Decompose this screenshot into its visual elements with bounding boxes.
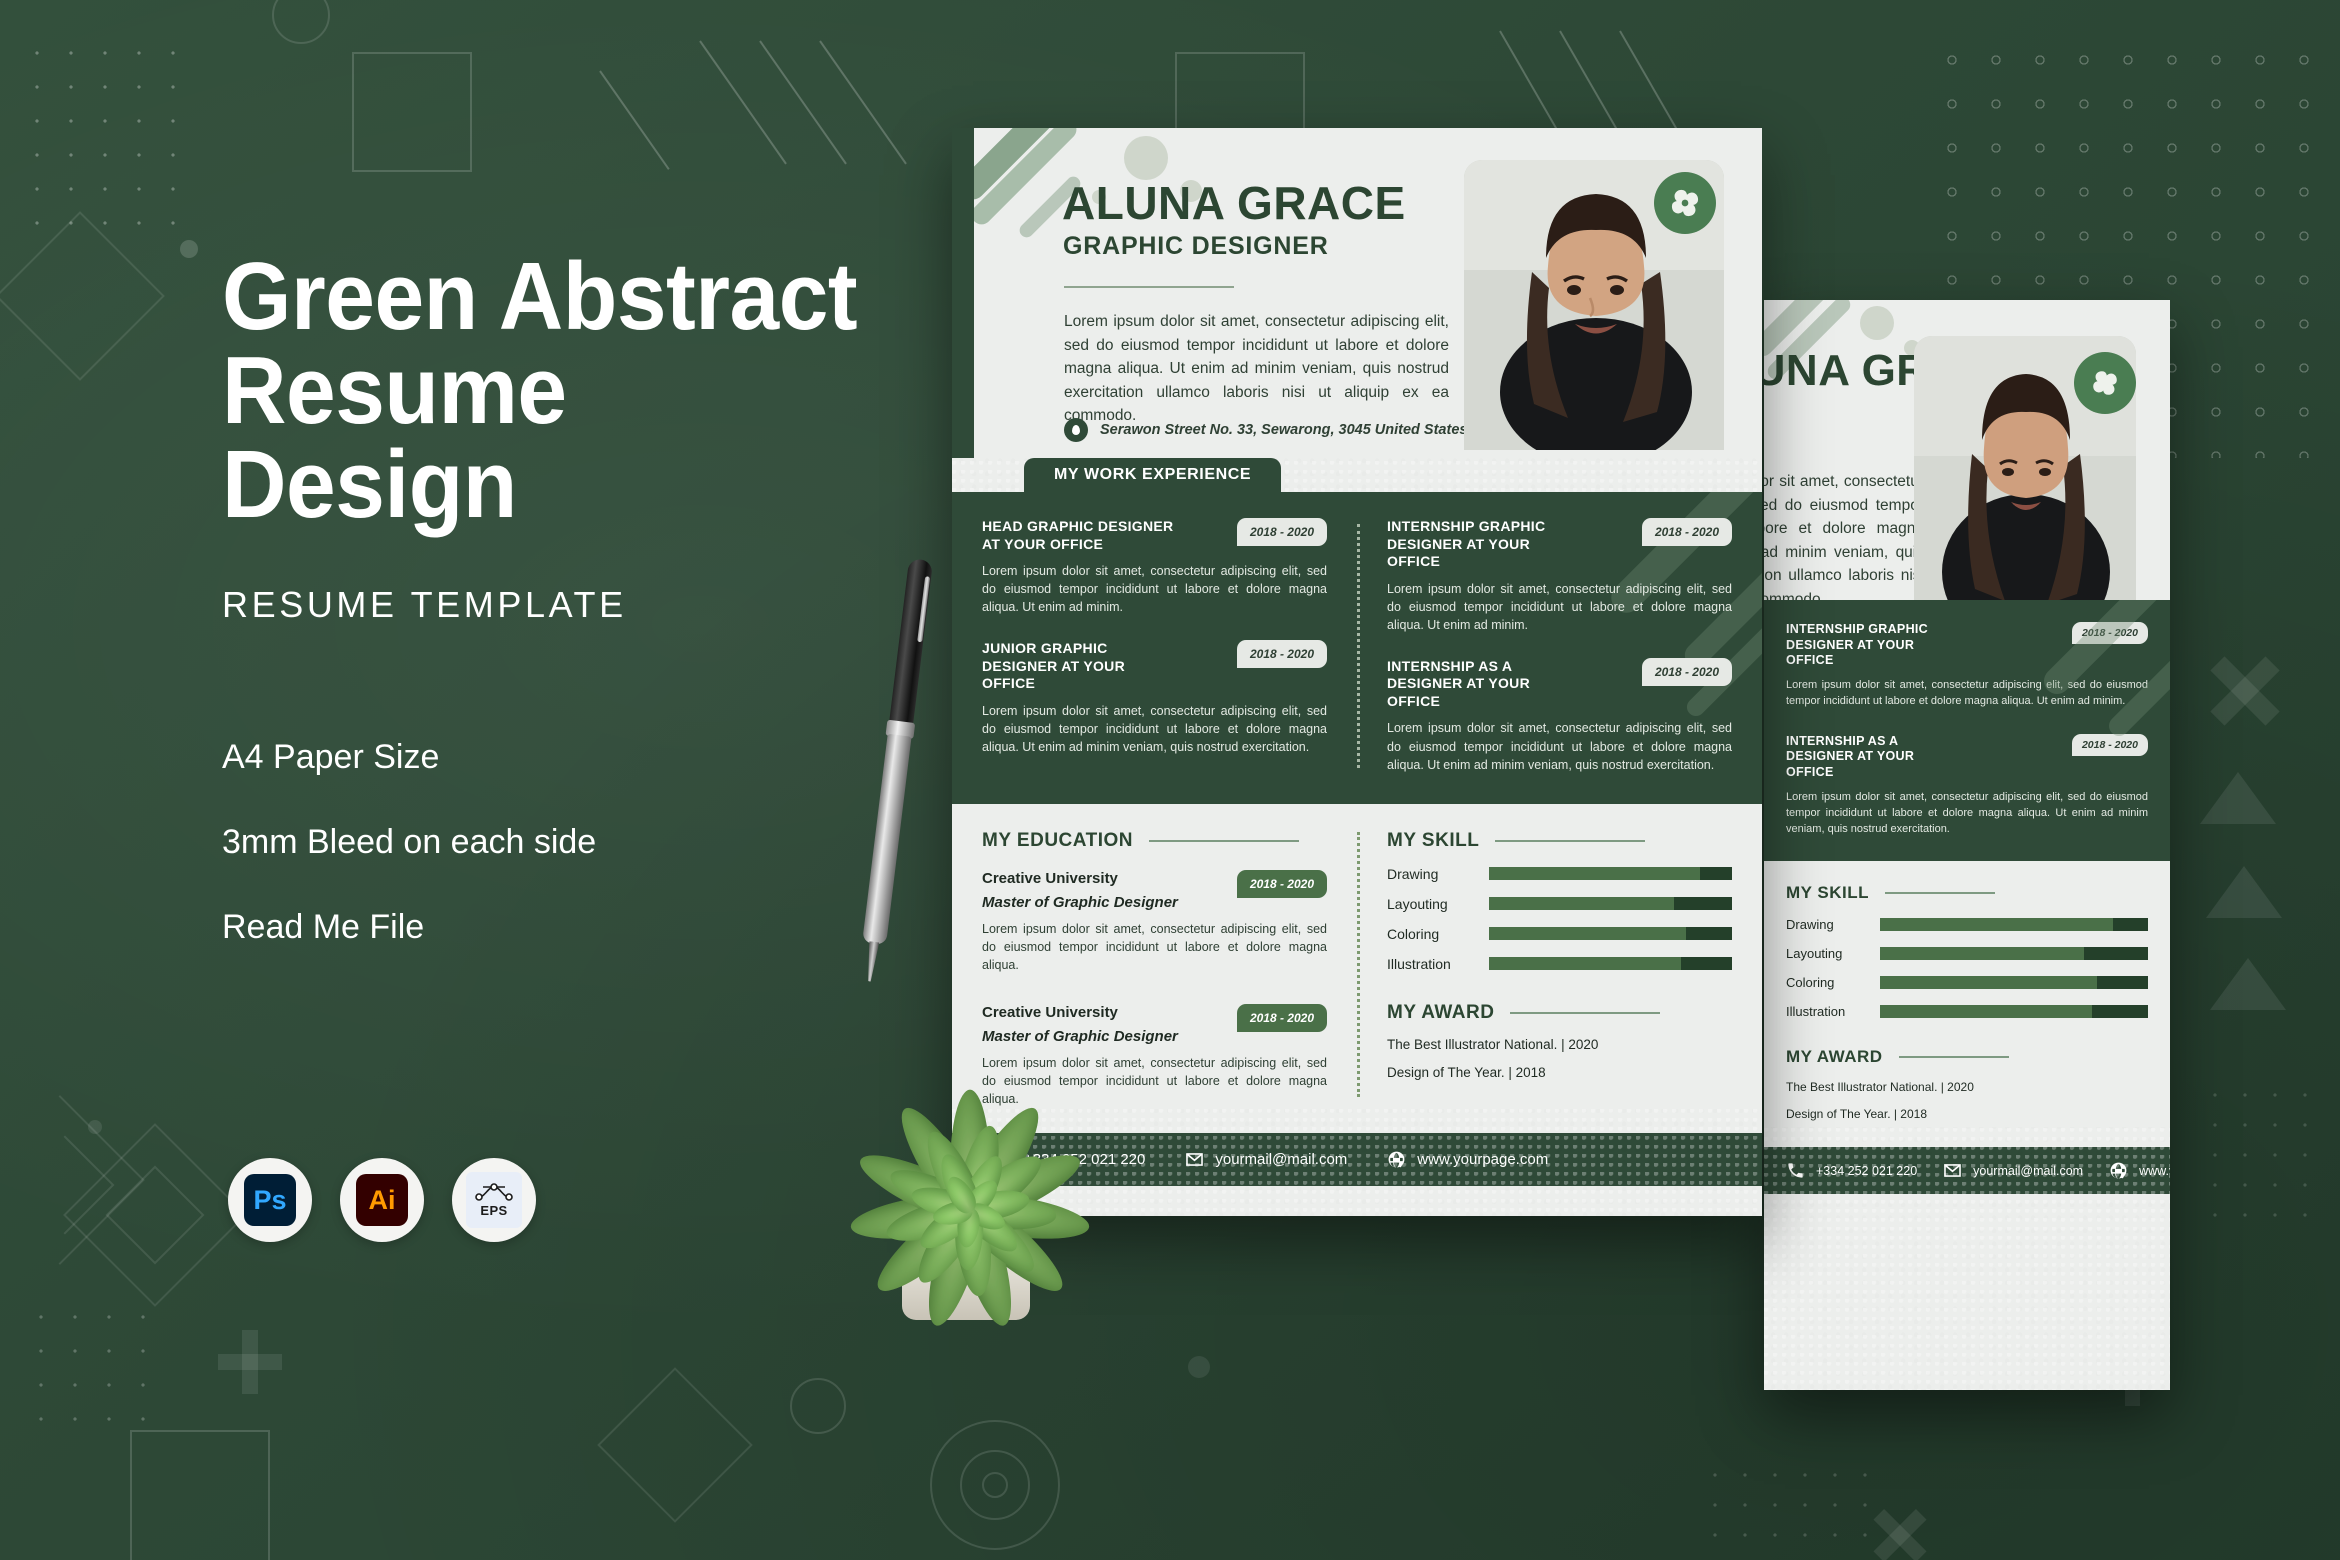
experience-columns: HEAD GRAPHIC DESIGNER AT YOUR OFFICE 201… [952, 518, 1762, 774]
experience-description: Lorem ipsum dolor sit amet, consectetur … [1387, 580, 1732, 634]
experience-title: INTERNSHIP GRAPHIC DESIGNER AT YOUR OFFI… [1786, 622, 1956, 669]
education-degree: Master of Graphic Designer [982, 894, 1178, 911]
skill-bar [1489, 867, 1732, 880]
back-logo [2074, 352, 2136, 414]
experience-date: 2018 - 2020 [1237, 640, 1327, 668]
ring-circle-left [790, 1378, 846, 1434]
feature-item: 3mm Bleed on each side [222, 823, 922, 862]
illustrator-badge: Ai [340, 1158, 424, 1242]
award-title: MY AWARD [1786, 1047, 1883, 1067]
contact-website[interactable]: www.yourpage.com [1387, 1150, 1548, 1169]
square-outline-top [352, 52, 472, 172]
heading-rule [1899, 1056, 2009, 1058]
education-text: Creative University Master of Graphic De… [982, 1004, 1178, 1045]
education-university: Creative University [982, 1004, 1178, 1021]
skill-label: Layouting [1786, 946, 1866, 961]
skill-label: Coloring [1387, 926, 1475, 942]
skill-bar [1489, 957, 1732, 970]
hero-subtitle: RESUME TEMPLATE [222, 584, 922, 626]
headline-line-2: Resume Design [222, 344, 873, 532]
feature-list: A4 Paper Size 3mm Bleed on each side Rea… [222, 738, 922, 947]
candidate-name: ALUNA GRACE [1062, 176, 1406, 230]
email-text: yourmail@mail.com [1973, 1164, 2083, 1178]
skill-column: MY SKILL Drawing Layouting Coloring [1357, 830, 1762, 1109]
experience-header: INTERNSHIP AS A DESIGNER AT YOUR OFFICE … [1387, 658, 1732, 711]
triangle-right-1 [2200, 772, 2276, 824]
dot-grid-top-left [20, 36, 190, 246]
experience-item: JUNIOR GRAPHIC DESIGNER AT YOUR OFFICE 2… [982, 640, 1327, 756]
experience-title: HEAD GRAPHIC DESIGNER AT YOUR OFFICE [982, 518, 1182, 553]
clover-logo-icon [2088, 366, 2122, 400]
envelope-icon [1943, 1161, 1962, 1180]
skill-title: MY SKILL [1786, 883, 1869, 903]
award-item: The Best Illustrator National. | 2020 [1387, 1037, 1732, 1052]
skill-row: Drawing [1786, 917, 2148, 932]
dot-bottom-mid [1188, 1356, 1210, 1378]
candidate-role: GRAPHIC DESIGNER [1063, 232, 1329, 261]
skill-bar-remainder [1681, 957, 1732, 970]
award-item: Design of The Year. | 2018 [1387, 1065, 1732, 1080]
skill-bar-remainder [2092, 1005, 2148, 1018]
education-description: Lorem ipsum dolor sit amet, consectetur … [982, 920, 1327, 974]
dot-top-left [180, 240, 198, 258]
ring-circle-bottom-core [982, 1472, 1008, 1498]
succulent-plant-prop [810, 1060, 1130, 1360]
experience-item: HEAD GRAPHIC DESIGNER AT YOUR OFFICE 201… [982, 518, 1327, 616]
skill-heading: MY SKILL [1387, 830, 1732, 852]
experience-band: HEAD GRAPHIC DESIGNER AT YOUR OFFICE 201… [952, 492, 1762, 804]
skill-row: Coloring [1786, 975, 2148, 990]
triangle-right-2 [2206, 866, 2282, 918]
contact-website[interactable]: www.yourpage.com [2109, 1161, 2170, 1180]
heading-rule [1885, 892, 1995, 894]
phone-text: +334 252 021 220 [1816, 1164, 1917, 1178]
experience-item: INTERNSHIP GRAPHIC DESIGNER AT YOUR OFFI… [1387, 518, 1732, 634]
experience-item: INTERNSHIP AS A DESIGNER AT YOUR OFFICE … [1387, 658, 1732, 774]
skill-row: Coloring [1387, 926, 1732, 942]
skill-bar [1880, 976, 2148, 989]
skill-bar [1880, 918, 2148, 931]
globe-icon [2109, 1161, 2128, 1180]
skill-bar-remainder [1674, 897, 1732, 910]
eps-icon: EPS [466, 1172, 522, 1228]
skill-bar-remainder [1700, 867, 1732, 880]
experience-column-left: HEAD GRAPHIC DESIGNER AT YOUR OFFICE 201… [952, 518, 1357, 774]
column-divider [1357, 524, 1360, 768]
award-item: Design of The Year. | 2018 [1786, 1107, 2148, 1121]
award-heading: MY AWARD [1786, 1047, 2148, 1067]
skill-bar [1880, 947, 2148, 960]
band-decoration [1940, 600, 2170, 861]
experience-column-right: INTERNSHIP GRAPHIC DESIGNER AT YOUR OFFI… [1357, 518, 1762, 774]
globe-icon [1387, 1150, 1406, 1169]
experience-title: JUNIOR GRAPHIC DESIGNER AT YOUR OFFICE [982, 640, 1182, 693]
dot-grid-right-lower [2200, 1080, 2320, 1240]
hero-text-block: Green Abstract Resume Design RESUME TEMP… [222, 250, 922, 993]
work-experience-tab[interactable]: MY WORK EXPERIENCE [1024, 458, 1281, 492]
about-paragraph: Lorem ipsum dolor sit amet, consectetur … [1064, 310, 1449, 428]
back-skill-zone: MY SKILL Drawing Layouting Coloring Illu… [1764, 861, 2170, 1127]
square-outline-bottom-left [130, 1430, 270, 1560]
bezier-curve-icon [475, 1182, 513, 1202]
education-date: 2018 - 2020 [1237, 870, 1327, 898]
education-item: Creative University Master of Graphic De… [982, 870, 1327, 974]
headline-line-1: Green Abstract [222, 250, 873, 344]
experience-description: Lorem ipsum dolor sit amet, consectetur … [982, 702, 1327, 756]
education-title: MY EDUCATION [982, 830, 1133, 852]
experience-description: Lorem ipsum dolor sit amet, consectetur … [982, 562, 1327, 616]
skill-row: Illustration [1387, 956, 1732, 972]
skill-bar [1489, 897, 1732, 910]
skill-list: Drawing Layouting Coloring Illustration [1387, 866, 1732, 972]
experience-title: INTERNSHIP AS A DESIGNER AT YOUR OFFICE [1387, 658, 1587, 711]
heading-rule [1510, 1012, 1660, 1014]
education-heading: MY EDUCATION [982, 830, 1327, 852]
skill-row: Layouting [1786, 946, 2148, 961]
back-sheet-header: ALUNA GRACE Lorem ipsum dolor sit amet, … [1764, 300, 2170, 600]
address-row: Serawon Street No. 33, Sewarong, 3045 Un… [1064, 418, 1472, 442]
skill-label: Coloring [1786, 975, 1866, 990]
back-about: Lorem ipsum dolor sit amet, consectetur … [1764, 470, 1924, 611]
pen-tip [864, 941, 879, 982]
dot-grid-bottom-left [24, 1300, 164, 1440]
skill-bar-remainder [2084, 947, 2148, 960]
illustrator-icon: Ai [356, 1174, 408, 1226]
contact-email[interactable]: yourmail@mail.com [1185, 1150, 1347, 1169]
contact-email[interactable]: yourmail@mail.com [1943, 1161, 2083, 1180]
skill-label: Layouting [1387, 896, 1475, 912]
eps-badge: EPS [452, 1158, 536, 1242]
skill-row: Illustration [1786, 1004, 2148, 1019]
software-badges: Ps Ai EPS [228, 1158, 536, 1242]
skill-bar-remainder [1686, 927, 1732, 940]
photoshop-badge: Ps [228, 1158, 312, 1242]
education-header: Creative University Master of Graphic De… [982, 870, 1327, 911]
experience-title: INTERNSHIP GRAPHIC DESIGNER AT YOUR OFFI… [1387, 518, 1587, 571]
skill-bar [1489, 927, 1732, 940]
skill-title: MY SKILL [1387, 830, 1479, 852]
award-item: The Best Illustrator National. | 2020 [1786, 1080, 2148, 1094]
photoshop-icon: Ps [244, 1174, 296, 1226]
feature-item: A4 Paper Size [222, 738, 922, 777]
skill-label: Drawing [1387, 866, 1475, 882]
website-text: www.yourpage.com [1417, 1151, 1548, 1168]
experience-date: 2018 - 2020 [1237, 518, 1327, 546]
experience-date: 2018 - 2020 [1642, 518, 1732, 546]
clover-logo-icon [1666, 184, 1704, 222]
resume-sheet-front: ALUNA GRACE GRAPHIC DESIGNER Lorem ipsum… [952, 128, 1762, 1216]
experience-date: 2018 - 2020 [1642, 658, 1732, 686]
education-header: Creative University Master of Graphic De… [982, 1004, 1327, 1045]
header-divider [1064, 286, 1234, 288]
company-logo [1654, 172, 1716, 234]
experience-header: INTERNSHIP GRAPHIC DESIGNER AT YOUR OFFI… [1387, 518, 1732, 571]
address-text: Serawon Street No. 33, Sewarong, 3045 Un… [1100, 422, 1472, 438]
envelope-icon [1185, 1150, 1204, 1169]
experience-header: HEAD GRAPHIC DESIGNER AT YOUR OFFICE 201… [982, 518, 1327, 553]
triangle-right-3 [2210, 958, 2286, 1010]
education-degree: Master of Graphic Designer [982, 1028, 1178, 1045]
skill-row: Drawing [1387, 866, 1732, 882]
x-mark-right [2206, 652, 2284, 730]
education-text: Creative University Master of Graphic De… [982, 870, 1178, 911]
experience-description: Lorem ipsum dolor sit amet, consectetur … [1387, 719, 1732, 773]
skill-bar [1880, 1005, 2148, 1018]
heading-rule [1495, 840, 1645, 842]
experience-title: INTERNSHIP AS A DESIGNER AT YOUR OFFICE [1786, 734, 1956, 781]
skill-label: Illustration [1786, 1004, 1866, 1019]
email-text: yourmail@mail.com [1215, 1151, 1347, 1168]
feature-item: Read Me File [222, 908, 922, 947]
award-title: MY AWARD [1387, 1002, 1494, 1024]
back-experience-band: INTERNSHIP GRAPHIC DESIGNER AT YOUR OFFI… [1764, 600, 2170, 861]
skill-bar-remainder [2097, 976, 2148, 989]
work-tab-wrapper: MY WORK EXPERIENCE [952, 458, 1762, 492]
location-pin-icon [1064, 418, 1088, 442]
award-heading: MY AWARD [1387, 1002, 1732, 1024]
skill-bar-remainder [2113, 918, 2148, 931]
skill-label: Drawing [1786, 917, 1866, 932]
experience-header: JUNIOR GRAPHIC DESIGNER AT YOUR OFFICE 2… [982, 640, 1327, 693]
education-university: Creative University [982, 870, 1178, 887]
website-text: www.yourpage.com [2139, 1164, 2170, 1178]
dot-grid-bottom-right [1700, 1460, 1880, 1540]
back-contact-footer: +334 252 021 220 yourmail@mail.com www.y… [1764, 1147, 2170, 1194]
eps-label: EPS [480, 1203, 507, 1218]
contact-phone[interactable]: +334 252 021 220 [1786, 1161, 1917, 1180]
heading-rule [1149, 840, 1299, 842]
resume-sheet-back: ALUNA GRACE Lorem ipsum dolor sit amet, … [1764, 300, 2170, 1390]
left-accent-bar [952, 128, 974, 458]
skill-heading: MY SKILL [1786, 883, 2148, 903]
skill-label: Illustration [1387, 956, 1475, 972]
skill-row: Layouting [1387, 896, 1732, 912]
plus-bottom-left [218, 1330, 282, 1394]
phone-icon [1786, 1161, 1805, 1180]
column-divider [1357, 832, 1360, 1097]
education-date: 2018 - 2020 [1237, 1004, 1327, 1032]
front-sheet-header: ALUNA GRACE GRAPHIC DESIGNER Lorem ipsum… [952, 128, 1762, 458]
